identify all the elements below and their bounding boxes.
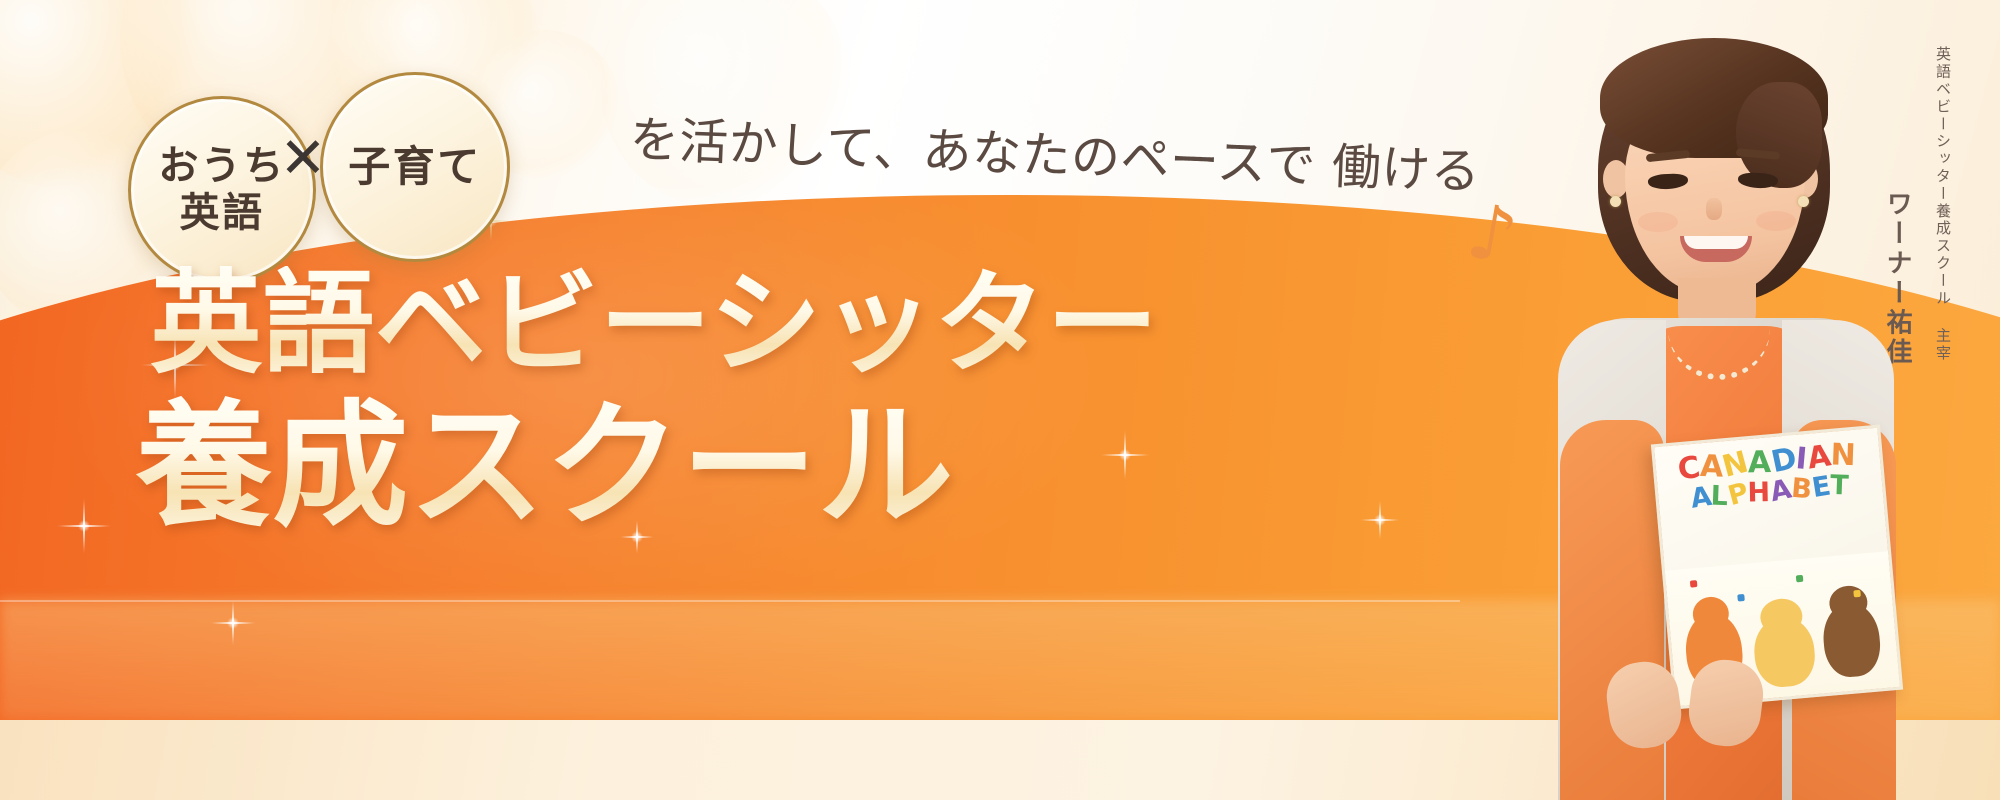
book-canadian-alphabet: CANADIAN ALPHABET: [1651, 424, 1903, 709]
cheek-right: [1756, 211, 1796, 231]
divider-line: [0, 600, 1460, 602]
earring-right: [1798, 196, 1809, 207]
headline-line-1: 英語ベビーシッター: [150, 266, 1350, 382]
badge-ouchi-label: おうち 英語: [158, 143, 285, 237]
earring-left: [1610, 196, 1621, 207]
confetti-dot: [1737, 594, 1745, 602]
badge-ouchi-line1: おうち: [158, 143, 285, 189]
confetti-dot: [1690, 580, 1698, 588]
headline-line-2: 養成スクール: [136, 396, 1350, 537]
badge-ouchi-line2: 英語: [180, 190, 265, 236]
hero-banner: おうち 英語 ✕ 子育て を活かして、あなたのペースで 働ける ♪ 英語ベビーシ…: [0, 0, 2000, 800]
cheek-left: [1638, 212, 1678, 232]
nose: [1706, 198, 1722, 220]
book-title: CANADIAN ALPHABET: [1663, 439, 1873, 515]
badge-kosodate: 子育て: [320, 72, 510, 262]
badge-kosodate-line1: 子育て: [348, 142, 482, 191]
page-title: 英語ベビーシッター 養成スクール: [150, 266, 1350, 538]
instructor-photo: CANADIAN ALPHABET: [1440, 0, 2000, 800]
teeth: [1684, 236, 1748, 249]
hair-fringe: [1600, 38, 1828, 158]
animal-cat: [1751, 614, 1817, 689]
confetti-dot: [1853, 590, 1861, 598]
animal-bear: [1821, 600, 1883, 679]
confetti-dot: [1796, 575, 1804, 583]
badge-kosodate-label: 子育て: [348, 144, 482, 190]
